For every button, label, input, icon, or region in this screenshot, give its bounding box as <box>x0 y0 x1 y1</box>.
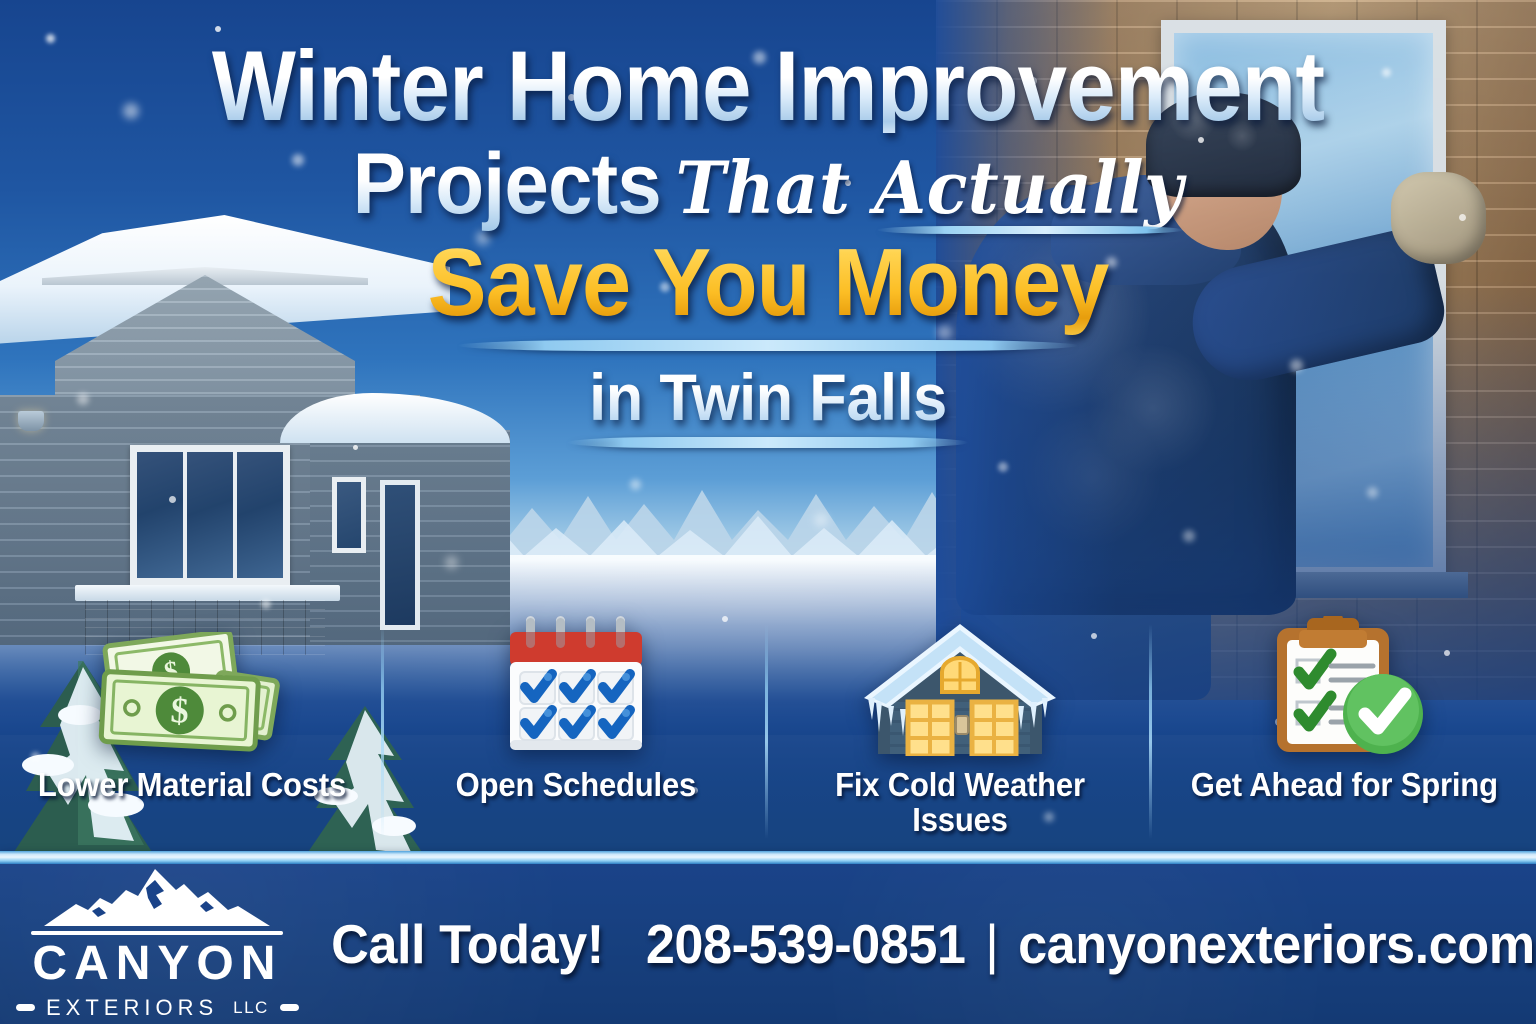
footer-bar: CANYON EXTERIORS LLC Call Today! 208-539… <box>0 864 1536 1024</box>
call-to-action-text: Call Today! <box>331 913 604 975</box>
headline-projects: Projects <box>353 135 661 234</box>
headline-save-you-money: Save You Money <box>61 228 1474 338</box>
logo-dash-right <box>280 1004 299 1011</box>
benefit-label: Open Schedules <box>456 768 696 803</box>
logo-company-name: CANYON <box>32 940 282 988</box>
logo-subtitle: EXTERIORS <box>46 995 218 1021</box>
house-door <box>380 480 420 630</box>
clipboard-check-icon <box>1259 616 1429 756</box>
location-underline-swoosh <box>568 437 968 448</box>
benefit-fix-cold-weather-issues: Fix Cold Weather Issues <box>768 612 1152 837</box>
headline-line-2: Projects That Actually <box>54 135 1482 234</box>
money-underline-swoosh <box>458 340 1078 351</box>
benefit-label: Lower Material Costs <box>38 768 346 803</box>
contact-separator: | <box>979 913 1004 975</box>
benefit-open-schedules: Open Schedules <box>384 612 768 803</box>
benefit-lower-material-costs: $ $ Lower Material C <box>0 612 384 803</box>
footer-accent-bar <box>0 851 1536 864</box>
contact-line: Call Today! 208-539-0851 | canyonexterio… <box>331 912 1536 976</box>
logo-divider-rule <box>31 931 283 935</box>
phone-number[interactable]: 208-539-0851 <box>646 913 966 975</box>
winter-promo-ad: Winter Home Improvement Projects That Ac… <box>0 0 1536 1024</box>
benefit-label: Fix Cold Weather Issues <box>805 768 1115 837</box>
window-snow-ledge <box>75 585 340 601</box>
logo-suffix: LLC <box>233 998 269 1018</box>
snowy-house-icon <box>856 616 1064 756</box>
headline-script-that-actually: That Actually <box>676 145 1184 230</box>
company-logo[interactable]: CANYON EXTERIORS LLC <box>0 868 299 1021</box>
headline-line-1: Winter Home Improvement <box>77 38 1459 133</box>
money-bills-icon: $ $ <box>97 616 287 756</box>
house-side-window <box>332 477 366 553</box>
benefit-label: Get Ahead for Spring <box>1190 768 1497 803</box>
benefits-row: $ $ Lower Material C <box>0 612 1536 857</box>
mountain-icon <box>42 868 272 930</box>
headline-location: in Twin Falls <box>54 359 1482 435</box>
calendar-checks-icon <box>498 616 654 756</box>
headline-block: Winter Home Improvement Projects That Ac… <box>0 38 1536 448</box>
logo-subtitle-row: EXTERIORS LLC <box>16 995 299 1021</box>
house-picture-window <box>130 445 290 585</box>
svg-text:$: $ <box>170 690 190 731</box>
logo-dash-left <box>16 1004 35 1011</box>
website-url[interactable]: canyonexteriors.com <box>1018 913 1535 975</box>
benefit-get-ahead-for-spring: Get Ahead for Spring <box>1152 612 1536 803</box>
